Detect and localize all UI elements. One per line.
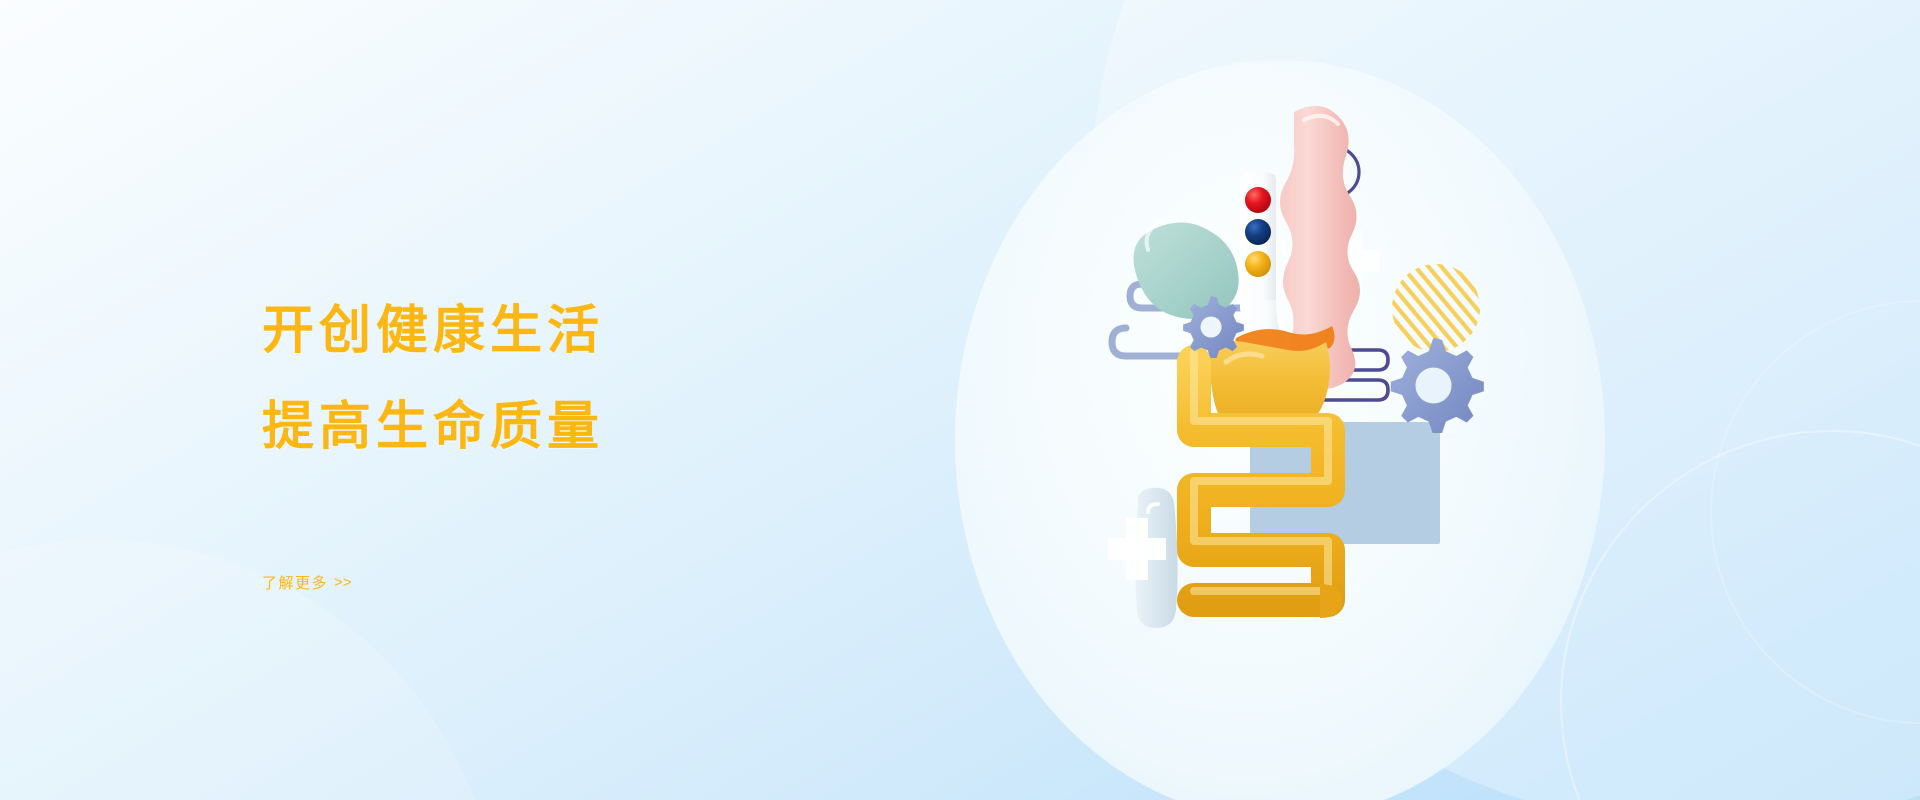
learn-more-link[interactable]: 了解更多 >> bbox=[262, 572, 352, 593]
navy-dot bbox=[1245, 219, 1271, 245]
background-circle-bottom-left bbox=[0, 540, 500, 800]
hero-banner: 开创健康生活 提高生命质量 了解更多 >> bbox=[0, 0, 1920, 800]
learn-more-label: 了解更多 bbox=[262, 572, 328, 593]
background-ring-right bbox=[1560, 430, 1920, 800]
digestive-system-illustration bbox=[1090, 100, 1510, 720]
background-ring-right-outer bbox=[1710, 300, 1920, 724]
large-gear bbox=[1391, 338, 1484, 433]
teal-liver bbox=[1134, 222, 1239, 318]
headline-line-1: 开创健康生活 bbox=[262, 305, 782, 357]
double-chevron-right-icon: >> bbox=[334, 574, 352, 591]
headline-line-2: 提高生命质量 bbox=[262, 401, 782, 453]
red-dot bbox=[1245, 187, 1271, 213]
yellow-dot bbox=[1245, 251, 1271, 277]
hero-copy: 开创健康生活 提高生命质量 bbox=[262, 305, 782, 453]
